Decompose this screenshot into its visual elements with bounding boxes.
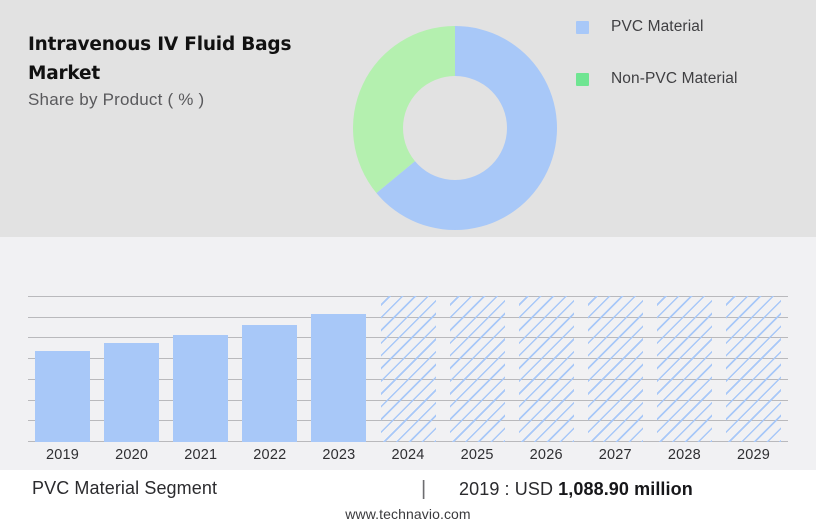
- x-axis-label-2026: 2026: [512, 447, 581, 469]
- x-axis-label-2021: 2021: [166, 447, 235, 469]
- bar-slot: [97, 296, 166, 442]
- bar-2025[interactable]: [450, 296, 505, 442]
- bar-slot: [443, 296, 512, 442]
- donut-hole: [403, 76, 507, 180]
- legend-item-non-pvc-material[interactable]: Non-PVC Material: [576, 66, 811, 92]
- x-axis-label-2029: 2029: [719, 447, 788, 469]
- bar-2029[interactable]: [726, 296, 781, 442]
- footer-website[interactable]: www.technavio.com: [0, 506, 816, 522]
- footer-value: 2019 : USD 1,088.90 million: [459, 479, 693, 500]
- square-swatch-icon: [576, 73, 589, 86]
- x-axis-label-2019: 2019: [28, 447, 97, 469]
- x-axis-label-2023: 2023: [304, 447, 373, 469]
- legend: PVC Material Non-PVC Material: [576, 14, 811, 118]
- bar-2022[interactable]: [242, 325, 297, 442]
- bar-2023[interactable]: [311, 314, 366, 442]
- bar-slot: [304, 296, 373, 442]
- bar-2027[interactable]: [588, 296, 643, 442]
- bar-chart-bars: [28, 296, 788, 442]
- x-axis-label-2027: 2027: [581, 447, 650, 469]
- legend-item-label: PVC Material: [611, 18, 704, 36]
- donut-chart-svg: [353, 26, 557, 230]
- bar-slot: [28, 296, 97, 442]
- donut-chart: [353, 26, 557, 230]
- legend-item-pvc-material[interactable]: PVC Material: [576, 14, 811, 40]
- bar-2024[interactable]: [381, 296, 436, 442]
- bar-2019[interactable]: [35, 351, 90, 442]
- x-axis-label-2024: 2024: [373, 447, 442, 469]
- footer-value-prefix: 2019 : USD: [459, 479, 558, 499]
- bar-2028[interactable]: [657, 296, 712, 442]
- square-swatch-icon: [576, 21, 589, 34]
- footer-divider: |: [421, 478, 426, 501]
- footer-value-amount: 1,088.90 million: [558, 479, 693, 499]
- bar-slot: [512, 296, 581, 442]
- x-axis-label-2022: 2022: [235, 447, 304, 469]
- bar-slot: [719, 296, 788, 442]
- legend-item-label: Non-PVC Material: [611, 70, 738, 88]
- bar-slot: [235, 296, 304, 442]
- x-axis-label-2020: 2020: [97, 447, 166, 469]
- page-subtitle: Share by Product ( % ): [28, 90, 348, 110]
- x-axis-label-2025: 2025: [443, 447, 512, 469]
- page-title: Intravenous IV Fluid Bags Market: [28, 30, 328, 88]
- bar-slot: [373, 296, 442, 442]
- x-axis-label-2028: 2028: [650, 447, 719, 469]
- footer-segment-label: PVC Material Segment: [32, 478, 217, 499]
- bar-slot: [581, 296, 650, 442]
- bar-2020[interactable]: [104, 343, 159, 442]
- bar-slot: [166, 296, 235, 442]
- bar-2026[interactable]: [519, 296, 574, 442]
- bar-slot: [650, 296, 719, 442]
- bar-2021[interactable]: [173, 335, 228, 442]
- chart-infographic: Intravenous IV Fluid Bags Market Share b…: [0, 0, 816, 528]
- bar-chart-x-axis: 2019202020212022202320242025202620272028…: [28, 447, 788, 469]
